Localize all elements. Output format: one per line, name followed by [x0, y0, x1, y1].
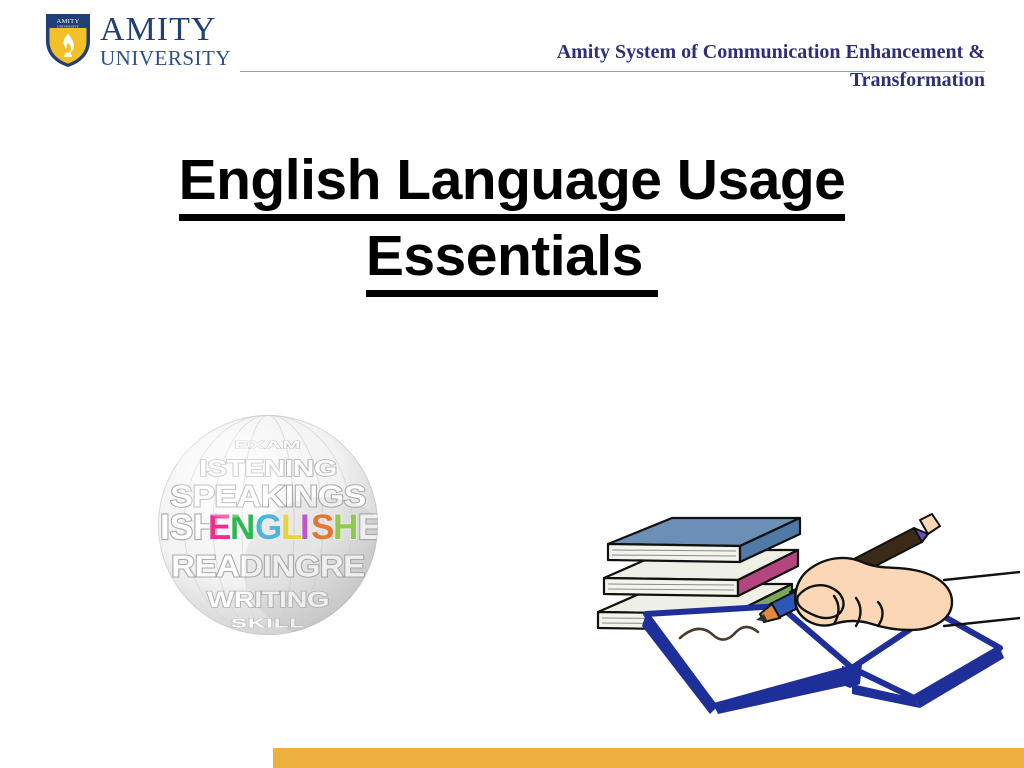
- writing-hand: [795, 558, 1020, 630]
- footer-accent-bar: [273, 748, 1024, 768]
- presentation-slide: AMITY UNIVERSITY AMITY UNIVERSITY Amity …: [0, 0, 1024, 768]
- english-word-sphere: EXAM ISTENING SPEAKINGS ISH E N G L: [150, 412, 386, 638]
- page-title: English Language Usage Essentials: [0, 143, 1024, 295]
- svg-text:UNIVERSITY: UNIVERSITY: [57, 24, 80, 28]
- wordmark-amity: AMITY: [100, 13, 231, 47]
- amity-university-logo: AMITY UNIVERSITY AMITY UNIVERSITY: [44, 11, 231, 69]
- program-title: Amity System of Communication Enhancemen…: [470, 38, 985, 95]
- page-title-line-1-text: English Language Usage: [179, 148, 846, 221]
- amity-shield-icon: AMITY UNIVERSITY: [44, 11, 92, 69]
- header-divider-rule: [240, 71, 985, 72]
- amity-wordmark: AMITY UNIVERSITY: [100, 11, 231, 69]
- books-and-writing-hand: [584, 508, 1020, 720]
- page-title-line-2: Essentials: [0, 219, 1024, 295]
- slide-header: AMITY UNIVERSITY AMITY UNIVERSITY Amity …: [0, 0, 1024, 100]
- sphere-word-rings: EXAM ISTENING SPEAKINGS ISH E N G L: [158, 415, 386, 637]
- page-title-line-2-text: Essentials: [366, 224, 658, 297]
- page-title-line-1: English Language Usage: [0, 143, 1024, 219]
- wordmark-university: UNIVERSITY: [100, 48, 231, 69]
